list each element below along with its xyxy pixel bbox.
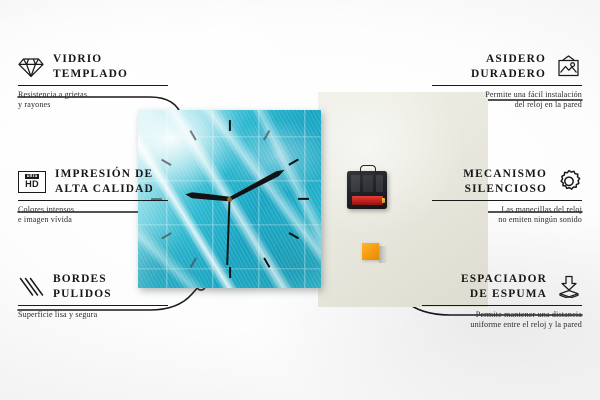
movement-embossing <box>351 175 383 192</box>
feature-impresion-alta-calidad: ultra HD IMPRESIÓN DE ALTA CALIDAD Color… <box>18 167 168 226</box>
feature-description-line1: Colores intensos <box>18 205 168 215</box>
feature-rule <box>432 200 582 201</box>
feature-title: MECANISMO SILENCIOSO <box>463 167 547 196</box>
clock-tick <box>228 120 230 131</box>
feature-asidero-duradero: ASIDERO DURADERO Permite una fácil insta… <box>432 52 582 111</box>
gear-icon <box>556 169 582 194</box>
feature-title-line2: ALTA CALIDAD <box>55 182 154 197</box>
feature-description: Colores intensos e imagen vívida <box>18 205 168 226</box>
polished-edges-icon <box>18 276 44 298</box>
clock-movement <box>347 171 387 209</box>
feature-description-line1: Resistencia a grietas <box>18 90 168 100</box>
feature-title: IMPRESIÓN DE ALTA CALIDAD <box>55 167 154 196</box>
foam-spacer-icon <box>556 275 582 298</box>
hanging-frame-icon <box>555 55 582 78</box>
feature-title-line2: DE ESPUMA <box>461 287 547 302</box>
diamond-icon <box>18 56 44 78</box>
foam-spacer-shadow <box>379 246 387 263</box>
feature-description-line2: y rayones <box>18 100 168 110</box>
feature-heading: MECANISMO SILENCIOSO <box>432 167 582 196</box>
feature-mecanismo-silencioso: MECANISMO SILENCIOSO Las manecillas del … <box>432 167 582 226</box>
feature-description-line1: Permite mantener una distancia <box>422 310 582 320</box>
feature-heading: ASIDERO DURADERO <box>432 52 582 81</box>
feature-description-line2: del reloj en la pared <box>432 100 582 110</box>
movement-hanger-hook <box>360 165 376 174</box>
feature-bordes-pulidos: BORDES PULIDOS Superficie lisa y segura <box>18 272 168 320</box>
feature-description-line1: Permite una fácil instalación <box>432 90 582 100</box>
feature-espaciador-de-espuma: ESPACIADOR DE ESPUMA Permite mantener un… <box>422 272 582 331</box>
feature-heading: ESPACIADOR DE ESPUMA <box>422 272 582 301</box>
feature-rule <box>18 200 168 201</box>
feature-title-line2: PULIDOS <box>53 287 112 302</box>
feature-title-line1: MECANISMO <box>463 167 547 182</box>
feature-rule <box>422 305 582 306</box>
clock-center-cap <box>227 197 232 202</box>
feature-description-line2: uniforme entre el reloj y la pared <box>422 320 582 330</box>
ultra-hd-large-text: HD <box>25 180 39 189</box>
aa-battery <box>352 196 383 205</box>
ultra-hd-icon: ultra HD <box>18 171 46 193</box>
feature-title: VIDRIO TEMPLADO <box>53 52 128 81</box>
feature-title-line2: DURADERO <box>471 67 546 82</box>
feature-description-line1: Las manecillas del reloj <box>432 205 582 215</box>
feature-vidrio-templado: VIDRIO TEMPLADO Resistencia a grietas y … <box>18 52 168 111</box>
feature-title: BORDES PULIDOS <box>53 272 112 301</box>
clock-tick <box>298 198 309 200</box>
feature-title-line2: TEMPLADO <box>53 67 128 82</box>
clock-tick <box>228 267 230 278</box>
feature-description-line2: no emiten ningún sonido <box>432 215 582 225</box>
feature-rule <box>432 85 582 86</box>
feature-description: Resistencia a grietas y rayones <box>18 90 168 111</box>
feature-description-line2: e imagen vívida <box>18 215 168 225</box>
feature-heading: VIDRIO TEMPLADO <box>18 52 168 81</box>
feature-title: ESPACIADOR DE ESPUMA <box>461 272 547 301</box>
feature-description: Las manecillas del reloj no emiten ningú… <box>432 205 582 226</box>
feature-description: Superficie lisa y segura <box>18 310 168 320</box>
feature-rule <box>18 305 168 306</box>
feature-rule <box>18 85 168 86</box>
feature-description: Permite mantener una distancia uniforme … <box>422 310 582 331</box>
feature-title-line1: BORDES <box>53 272 112 287</box>
feature-heading: BORDES PULIDOS <box>18 272 168 301</box>
feature-heading: ultra HD IMPRESIÓN DE ALTA CALIDAD <box>18 167 168 196</box>
feature-title: ASIDERO DURADERO <box>471 52 546 81</box>
feature-title-line1: IMPRESIÓN DE <box>55 167 154 182</box>
feature-title-line1: ASIDERO <box>471 52 546 67</box>
feature-title-line2: SILENCIOSO <box>463 182 547 197</box>
feature-description-line1: Superficie lisa y segura <box>18 310 168 320</box>
feature-description: Permite una fácil instalación del reloj … <box>432 90 582 111</box>
product-infographic: VIDRIO TEMPLADO Resistencia a grietas y … <box>0 0 600 400</box>
foam-spacer <box>362 243 379 260</box>
feature-title-line1: VIDRIO <box>53 52 128 67</box>
feature-title-line1: ESPACIADOR <box>461 272 547 287</box>
